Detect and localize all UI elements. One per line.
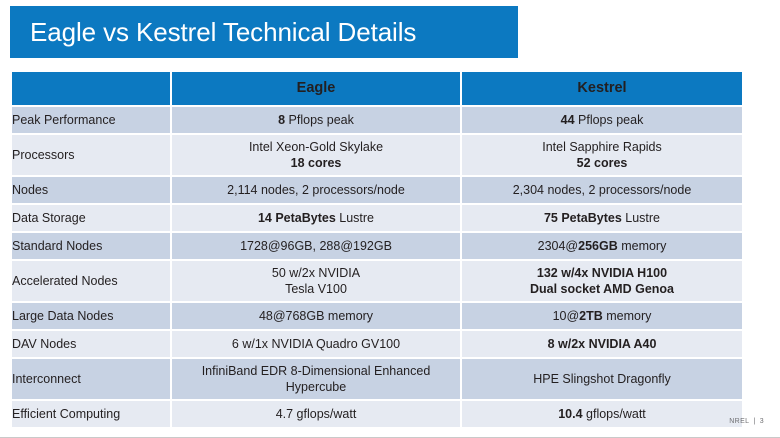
cell-eagle-large-data-nodes: 48@768GB memory <box>172 303 460 329</box>
table-row: DAV Nodes 6 w/1x NVIDIA Quadro GV100 8 w… <box>12 331 742 357</box>
cell-kestrel-large-data-nodes: 10@2TB memory <box>462 303 742 329</box>
row-label-standard-nodes: Standard Nodes <box>12 233 170 259</box>
value-plain: Lustre <box>622 211 660 225</box>
value-plain: gflops/watt <box>583 407 646 421</box>
value-bold: 256GB <box>578 239 618 253</box>
value-plain: Lustre <box>336 211 374 225</box>
value-bold: 14 PetaBytes <box>258 211 336 225</box>
table-row: Interconnect InfiniBand EDR 8-Dimensiona… <box>12 359 742 399</box>
specs-comparison-table: Eagle Kestrel Peak Performance 8 Pflops … <box>10 70 744 429</box>
row-label-interconnect: Interconnect <box>12 359 170 399</box>
cell-eagle-interconnect: InfiniBand EDR 8-Dimensional Enhanced Hy… <box>172 359 460 399</box>
cell-kestrel-processors: Intel Sapphire Rapids 52 cores <box>462 135 742 175</box>
cell-eagle-processors: Intel Xeon-Gold Skylake 18 cores <box>172 135 460 175</box>
table-row: Large Data Nodes 48@768GB memory 10@2TB … <box>12 303 742 329</box>
table-row: Processors Intel Xeon-Gold Skylake 18 co… <box>12 135 742 175</box>
value-line-2: Dual socket AMD Genoa <box>462 281 742 297</box>
cell-kestrel-accelerated-nodes: 132 w/4x NVIDIA H100 Dual socket AMD Gen… <box>462 261 742 301</box>
row-label-dav-nodes: DAV Nodes <box>12 331 170 357</box>
cell-kestrel-interconnect: HPE Slingshot Dragonfly <box>462 359 742 399</box>
value-line-2: 18 cores <box>172 155 460 171</box>
value-bold: 2TB <box>579 309 603 323</box>
cell-kestrel-dav-nodes: 8 w/2x NVIDIA A40 <box>462 331 742 357</box>
cell-kestrel-standard-nodes: 2304@256GB memory <box>462 233 742 259</box>
cell-eagle-standard-nodes: 1728@96GB, 288@192GB <box>172 233 460 259</box>
column-header-eagle: Eagle <box>172 72 460 105</box>
value-line-2: Tesla V100 <box>172 281 460 297</box>
row-label-nodes: Nodes <box>12 177 170 203</box>
column-header-kestrel: Kestrel <box>462 72 742 105</box>
cell-kestrel-peak-performance: 44 Pflops peak <box>462 107 742 133</box>
value-line-2: Hypercube <box>172 379 460 395</box>
value-bold: 44 <box>561 113 575 127</box>
value-bold: 75 PetaBytes <box>544 211 622 225</box>
footer-credit: NREL|3 <box>729 418 764 425</box>
table-body: Peak Performance 8 Pflops peak 44 Pflops… <box>12 107 742 427</box>
value-line-1: Intel Sapphire Rapids <box>462 139 742 155</box>
value-line-2: 52 cores <box>462 155 742 171</box>
value-plain-post: memory <box>603 309 652 323</box>
page-title: Eagle vs Kestrel Technical Details <box>10 17 416 48</box>
table-row: Data Storage 14 PetaBytes Lustre 75 Peta… <box>12 205 742 231</box>
row-label-data-storage: Data Storage <box>12 205 170 231</box>
table-row: Standard Nodes 1728@96GB, 288@192GB 2304… <box>12 233 742 259</box>
slide-title-bar: Eagle vs Kestrel Technical Details <box>10 6 518 58</box>
footer-page-number: 3 <box>760 418 764 425</box>
value-plain: Pflops peak <box>575 113 644 127</box>
value-plain: Pflops peak <box>285 113 354 127</box>
value-line-1: 50 w/2x NVIDIA <box>172 265 460 281</box>
cell-eagle-nodes: 2,114 nodes, 2 processors/node <box>172 177 460 203</box>
value-plain-post: memory <box>618 239 667 253</box>
table-row: Efficient Computing 4.7 gflops/watt 10.4… <box>12 401 742 427</box>
value-bold: 10.4 <box>558 407 582 421</box>
cell-kestrel-nodes: 2,304 nodes, 2 processors/node <box>462 177 742 203</box>
table-row: Accelerated Nodes 50 w/2x NVIDIA Tesla V… <box>12 261 742 301</box>
cell-eagle-peak-performance: 8 Pflops peak <box>172 107 460 133</box>
value-plain-pre: 10@ <box>553 309 580 323</box>
value-line-1: InfiniBand EDR 8-Dimensional Enhanced <box>172 363 460 379</box>
row-label-processors: Processors <box>12 135 170 175</box>
row-label-efficient-computing: Efficient Computing <box>12 401 170 427</box>
table-header-row: Eagle Kestrel <box>12 72 742 105</box>
value-line-1: 132 w/4x NVIDIA H100 <box>462 265 742 281</box>
table-row: Peak Performance 8 Pflops peak 44 Pflops… <box>12 107 742 133</box>
row-label-large-data-nodes: Large Data Nodes <box>12 303 170 329</box>
cell-eagle-accelerated-nodes: 50 w/2x NVIDIA Tesla V100 <box>172 261 460 301</box>
table-row: Nodes 2,114 nodes, 2 processors/node 2,3… <box>12 177 742 203</box>
cell-eagle-dav-nodes: 6 w/1x NVIDIA Quadro GV100 <box>172 331 460 357</box>
footer-separator: | <box>749 418 759 425</box>
row-label-accelerated-nodes: Accelerated Nodes <box>12 261 170 301</box>
value-line-1: Intel Xeon-Gold Skylake <box>172 139 460 155</box>
cell-kestrel-efficient-computing: 10.4 gflops/watt <box>462 401 742 427</box>
footer-organization: NREL <box>729 418 749 425</box>
cell-eagle-data-storage: 14 PetaBytes Lustre <box>172 205 460 231</box>
row-label-peak-performance: Peak Performance <box>12 107 170 133</box>
cell-kestrel-data-storage: 75 PetaBytes Lustre <box>462 205 742 231</box>
cell-eagle-efficient-computing: 4.7 gflops/watt <box>172 401 460 427</box>
value-plain-pre: 2304@ <box>538 239 579 253</box>
column-header-blank <box>12 72 170 105</box>
